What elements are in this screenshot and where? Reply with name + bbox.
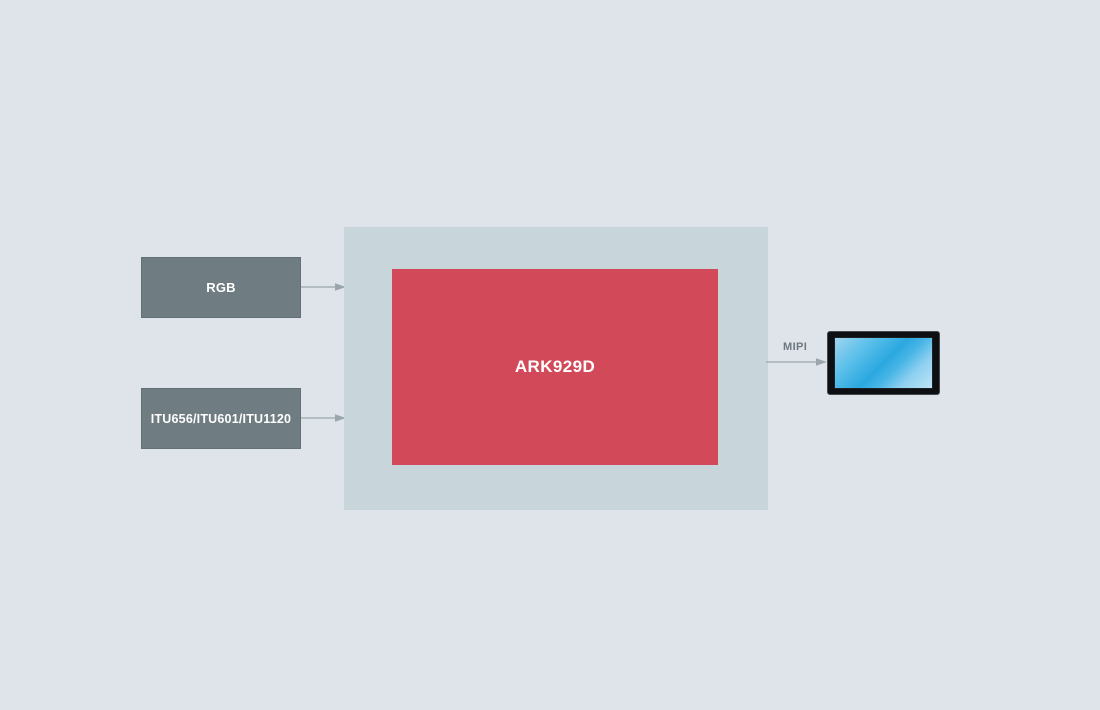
input-block-itu[interactable]: ITU656/ITU601/ITU1120 [141, 388, 301, 449]
connector-rgb-to-chip-arrow [301, 281, 347, 293]
display-monitor-icon[interactable] [827, 331, 940, 395]
connector-itu-to-chip-arrow [301, 412, 347, 424]
chip-core-label: ARK929D [515, 357, 595, 377]
display-monitor-screen [834, 337, 933, 389]
input-block-rgb[interactable]: RGB [141, 257, 301, 318]
input-block-rgb-label: RGB [206, 280, 236, 295]
input-block-itu-label: ITU656/ITU601/ITU1120 [151, 412, 291, 426]
connector-chip-to-display-arrow [766, 356, 828, 368]
diagram-canvas: RGB ITU656/ITU601/ITU1120 ARK929D MIPI [0, 0, 1100, 710]
mipi-interface-label: MIPI [783, 341, 807, 353]
chip-core-block[interactable]: ARK929D [392, 269, 718, 465]
